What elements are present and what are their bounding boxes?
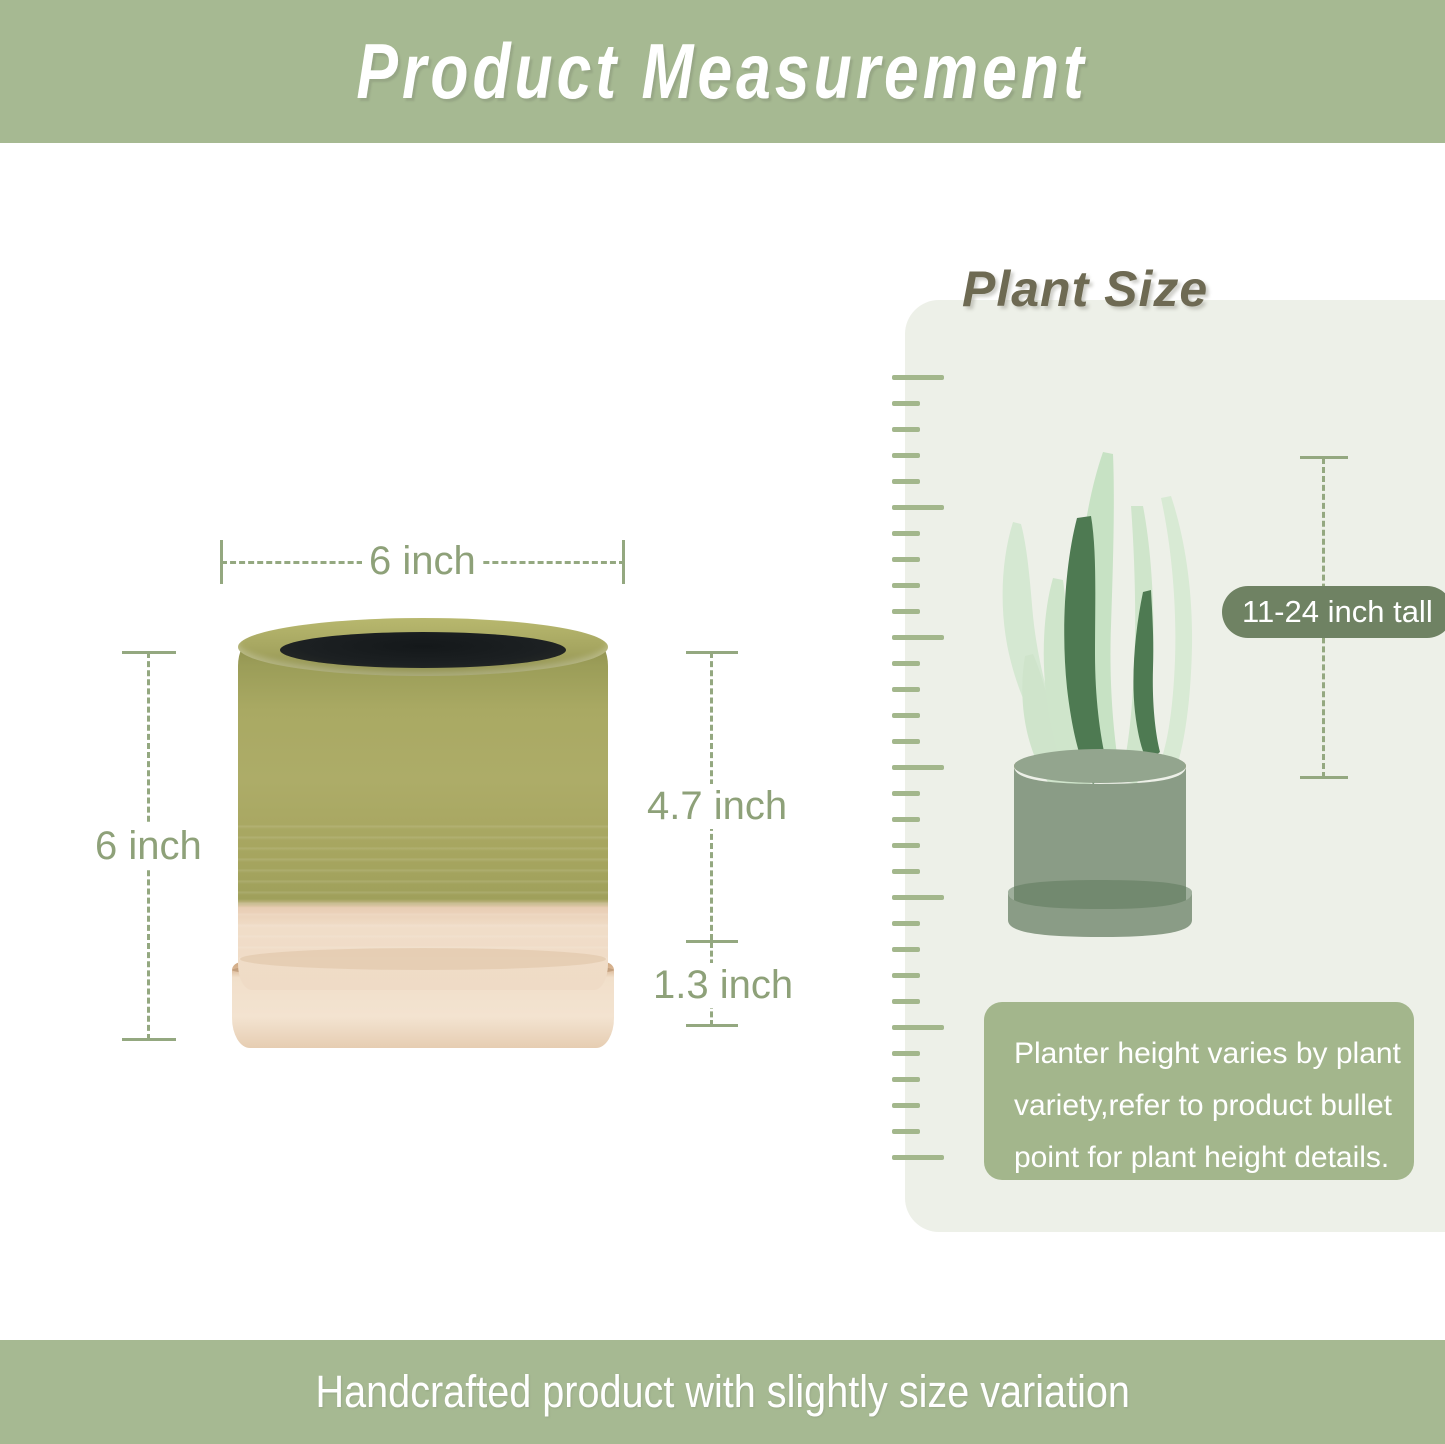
- ruler-tick: [892, 713, 920, 718]
- pot-height-dimension-label: 4.7 inch: [640, 784, 794, 829]
- footer-note: Handcrafted product with slightly size v…: [315, 1366, 1129, 1418]
- ruler-scale: [892, 375, 962, 1165]
- ruler-tick: [892, 1129, 920, 1134]
- footer-banner: Handcrafted product with slightly size v…: [0, 1340, 1445, 1444]
- ruler-tick: [892, 1155, 944, 1160]
- note-line-3: point for plant height details.: [1014, 1132, 1384, 1184]
- page-title: Product Measurement: [357, 26, 1088, 117]
- ruler-tick: [892, 401, 920, 406]
- ruler-tick: [892, 479, 920, 484]
- leaf-far-right: [1159, 496, 1192, 772]
- product-photo-planter: [228, 618, 618, 1058]
- ruler-tick: [892, 1025, 944, 1030]
- planter-glaze-streaks: [238, 818, 608, 968]
- note-line-1: Planter height varies by plant: [1014, 1028, 1384, 1080]
- ruler-tick: [892, 817, 920, 822]
- ruler-tick: [892, 843, 920, 848]
- ruler-tick: [892, 869, 920, 874]
- saucer-height-dimension-label: 1.3 inch: [646, 963, 800, 1008]
- ruler-tick: [892, 895, 944, 900]
- ruler-tick: [892, 791, 920, 796]
- ruler-tick: [892, 973, 920, 978]
- plant-height-dimension-cap-bottom: [1300, 776, 1348, 779]
- ruler-tick: [892, 739, 920, 744]
- ruler-tick: [892, 609, 920, 614]
- ruler-tick: [892, 1103, 920, 1108]
- note-line-2: variety,refer to product bullet: [1014, 1080, 1384, 1132]
- ruler-tick: [892, 427, 920, 432]
- ruler-tick: [892, 557, 920, 562]
- plant-pot-saucer-lip: [1008, 880, 1192, 909]
- ruler-tick: [892, 505, 944, 510]
- planter-base-ring: [240, 948, 606, 970]
- ruler-tick: [892, 583, 920, 588]
- plant-illustration: [985, 440, 1215, 940]
- ruler-tick: [892, 999, 920, 1004]
- plant-height-badge: 11-24 inch tall: [1222, 586, 1445, 638]
- plant-size-title: Plant Size: [962, 260, 1208, 318]
- ruler-tick: [892, 1051, 920, 1056]
- header-banner: Product Measurement: [0, 0, 1445, 143]
- plant-height-note-box: Planter height varies by plant variety,r…: [984, 1002, 1414, 1180]
- ruler-tick: [892, 1077, 920, 1082]
- ruler-tick: [892, 661, 920, 666]
- height-dimension-label: 6 inch: [88, 824, 209, 869]
- ruler-tick: [892, 947, 920, 952]
- product-measurement-infographic: Product Measurement 6 inch 6 inch 4.7 in…: [0, 0, 1445, 1444]
- ruler-tick: [892, 687, 920, 692]
- snake-plant-svg: [985, 440, 1215, 940]
- ruler-tick: [892, 375, 944, 380]
- ruler-tick: [892, 453, 920, 458]
- ruler-tick: [892, 635, 944, 640]
- width-dimension-label: 6 inch: [362, 539, 483, 584]
- ruler-tick: [892, 765, 944, 770]
- plant-pot-rim: [1014, 749, 1186, 783]
- planter-interior-opening: [280, 632, 566, 668]
- ruler-tick: [892, 531, 920, 536]
- ruler-tick: [892, 921, 920, 926]
